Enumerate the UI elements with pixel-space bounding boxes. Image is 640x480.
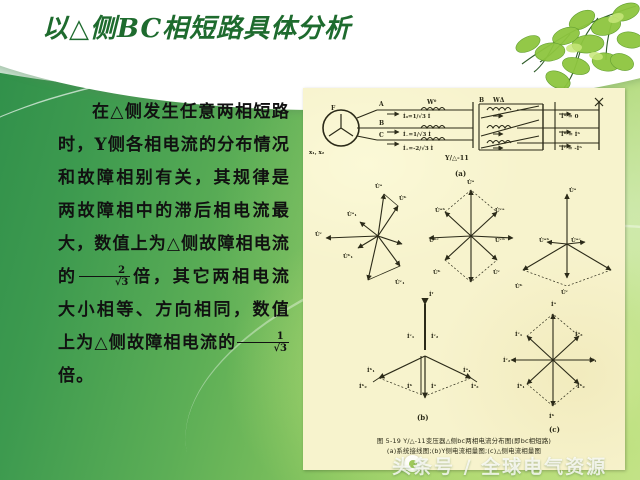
body-segment-1: 在△侧发生任意两相短路时，Y侧各相电流的分布情况和故障相别有关，其规律是两故障相… — [58, 102, 290, 287]
phasor-mid-label-5: U̇ᶜᵇ — [495, 237, 505, 244]
fig-c-label-Ia1: İᵃ₁ — [589, 357, 597, 364]
label-current-ic: İᶜ = -İᵇ — [561, 145, 582, 152]
label-winding-wy: W⁰ — [426, 99, 437, 106]
phasor-left-label-5: U̇ᵇ₁ — [343, 253, 354, 260]
scanned-figure-panel: F A B C W⁰ WΔ B x₁, x₂ İ₀=1/√3 İ İ₋=1/√3… — [303, 88, 625, 470]
fig-c-label-Ic2: İᶜ₂ — [503, 357, 511, 364]
watermark-text: 头条号 / 全球电气资源 — [392, 452, 636, 479]
phasor-right-label-1: U̇ᵃ — [569, 187, 577, 194]
phasor-left-label-3: U̇ᶜ — [315, 231, 323, 238]
label-current-IB: İ₋=1/√3 İ — [403, 131, 431, 138]
phasor-mid-label-1: U̇ᵃ — [467, 179, 475, 186]
fraction-two-over-root-three: 2√3 — [79, 265, 131, 288]
body-paragraph: 在△侧发生任意两相短路时，Y侧各相电流的分布情况和故障相别有关，其规律是两故障相… — [58, 96, 290, 393]
body-segment-3: 倍。 — [58, 366, 94, 386]
sublabel-a: (a) — [455, 169, 466, 178]
fig-b-label-IF: İᶠ — [429, 291, 434, 298]
phasor-mid-label-4: U̇ᵇᶜ — [429, 237, 440, 244]
sublabel-b: (b) — [417, 413, 429, 422]
fig-c-label-Ia: İᵃ — [551, 301, 557, 308]
phasor-left-label-2: U̇ᵇ — [399, 195, 407, 202]
fig-c-label-Ib: İᵇ — [549, 413, 555, 420]
label-vector-group: Y/△-11 — [444, 154, 469, 162]
fraction-numerator: 1 — [237, 331, 289, 342]
phasor-right-label-5: U̇ᶜ — [561, 289, 569, 296]
phasor-mid-label-7: U̇ᶜ — [493, 269, 501, 276]
page-title: 以△侧BC相短路具体分析 — [42, 8, 351, 45]
label-terminal-B: B — [379, 120, 384, 127]
figure-caption-line-1: 图 5-19 Y/△-11变压器△侧bc两相电流分布图(即bc相短路) — [311, 436, 617, 446]
label-source-reactance: x₁, x₂ — [309, 150, 325, 156]
phasor-right-label-4: U̇ᵇ — [515, 283, 523, 290]
fraction-denominator: √3 — [79, 276, 131, 288]
figure-drawing: F A B C W⁰ WΔ B x₁, x₂ İ₀=1/√3 İ İ₋=1/√3… — [303, 88, 625, 470]
phasor-mid-label-3: U̇ᶜᵃ — [495, 207, 505, 214]
fig-b-label-IB: İᵇ — [407, 383, 413, 390]
fraction-numerator: 2 — [79, 265, 131, 276]
label-delta-terminal-B: B — [479, 97, 484, 104]
label-terminal-C: C — [379, 132, 384, 139]
phasor-left-label-6: U̇ᶜ₁ — [395, 279, 405, 286]
fig-c-label-Ia2: İᵃ₂ — [575, 331, 583, 338]
label-current-ib: İᵇ = İᵇ — [561, 131, 580, 138]
fig-c-label-Ib1: İᵇ₁ — [517, 383, 525, 390]
phasor-mid-label-2: U̇ᵃᵇ — [435, 207, 445, 214]
fig-c-label-Ic1: İᶜ₁ — [515, 331, 523, 338]
fig-b-label-IB1: İᵇ₁ — [367, 367, 375, 374]
fig-b-label-IC1: İᶜ₁ — [407, 333, 415, 340]
fig-c-label-Ib2: İᵇ₂ — [577, 383, 585, 390]
fig-b-label-IA2: İᵃ₂ — [471, 383, 479, 390]
label-source-F: F — [331, 105, 336, 112]
phasor-right-label-3: U̇ᵃᶜ — [571, 237, 581, 244]
phasor-left-label-1: U̇ᵃ — [375, 183, 383, 190]
fraction-one-over-root-three: 1√3 — [237, 331, 289, 354]
sublabel-c: (c) — [549, 425, 560, 434]
label-current-IA: İ₀=1/√3 İ — [403, 113, 431, 120]
label-terminal-A: A — [378, 101, 384, 108]
fig-b-label-IA: İᵃ — [431, 383, 437, 390]
phasor-right-label-2: U̇ᵃᵇ — [539, 237, 549, 244]
phasor-left-label-4: U̇ᵃ₁ — [347, 211, 357, 218]
phasor-mid-label-6: U̇ᵇ — [433, 269, 441, 276]
label-winding-wd: WΔ — [492, 97, 505, 104]
fig-b-label-IB2: İᵇ₂ — [359, 383, 367, 390]
slide-canvas: 以△侧BC相短路具体分析 在△侧发生任意两相短路时，Y侧各相电流的分布情况和故障… — [0, 0, 640, 480]
label-current-IC: İ₊=-2/√3 İ — [403, 145, 434, 152]
fig-b-label-IC2: İᶜ₂ — [431, 333, 439, 340]
fig-b-label-IA1: İᵃ₁ — [463, 367, 471, 374]
fraction-denominator: √3 — [237, 342, 289, 354]
label-current-ia: İᵃ = 0 — [561, 113, 579, 120]
